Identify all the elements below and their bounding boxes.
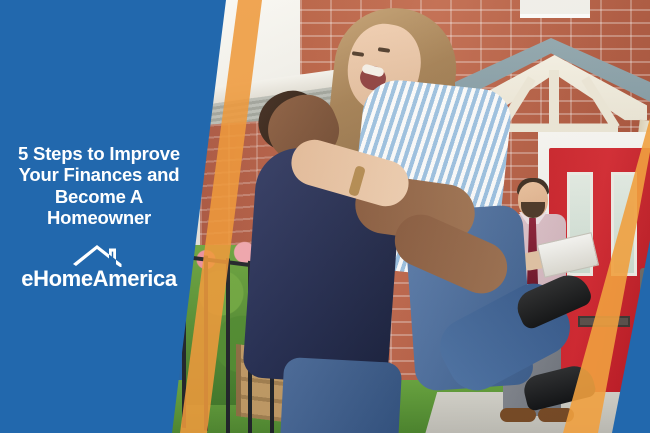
agent-shoe-left <box>500 408 536 422</box>
man-jeans <box>280 357 403 433</box>
brand-logo: eHomeAmerica <box>21 245 176 290</box>
brand-name: eHomeAmerica <box>21 268 176 290</box>
house-roof-icon <box>73 245 125 267</box>
promo-banner: 5 Steps to Improve Your Finances and Bec… <box>0 0 650 433</box>
agent-shoe-right <box>538 408 574 422</box>
door-handle <box>640 268 647 294</box>
panel-content: 5 Steps to Improve Your Finances and Bec… <box>0 0 200 433</box>
upper-window <box>520 0 590 18</box>
page-title: 5 Steps to Improve Your Finances and Bec… <box>3 143 195 229</box>
door-letterbox <box>578 316 630 327</box>
door-glass-right <box>611 172 637 276</box>
